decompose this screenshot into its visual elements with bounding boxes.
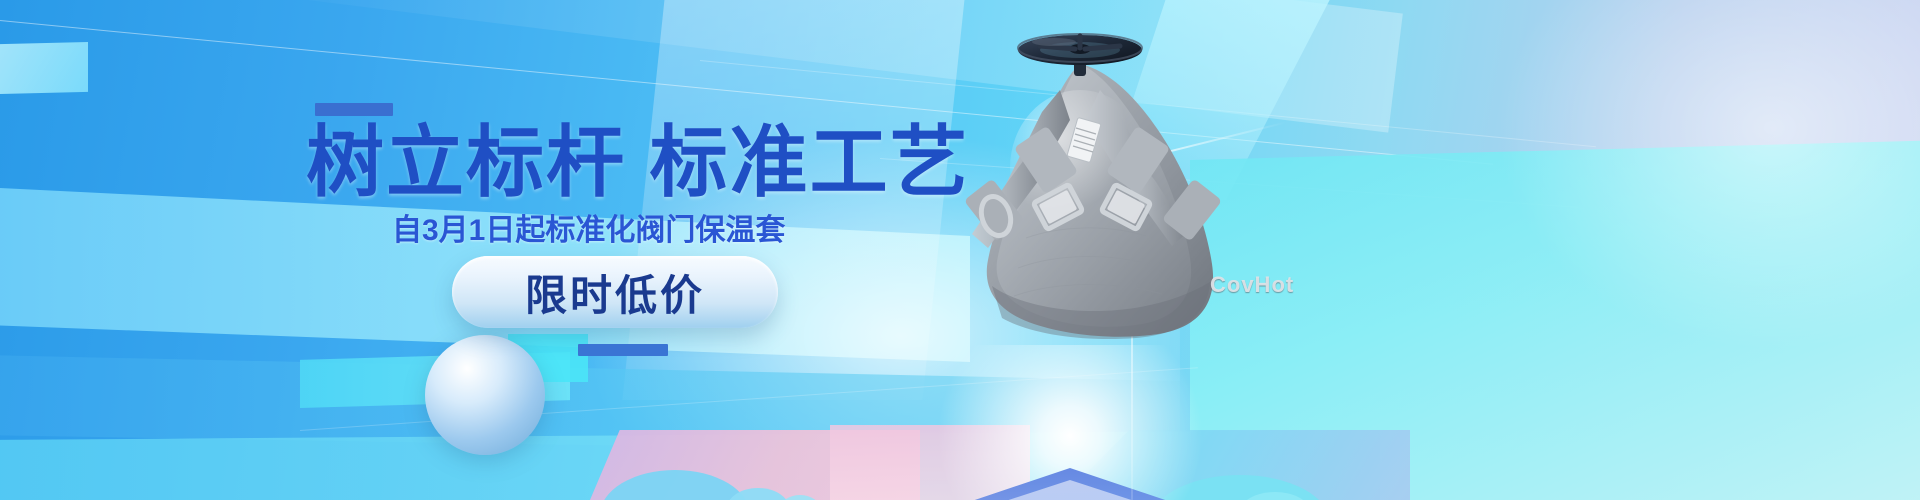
valve-handwheel [1018,34,1142,76]
light-chip-left [0,42,88,94]
cta-button-label: 限时低价 [525,262,705,323]
accent-dash-top [315,103,393,116]
product-brand-label: CovHot [1210,272,1294,298]
sphere-decoration [425,335,545,455]
promo-banner: CovHot 树立标杆 标准工艺 自3月1日起标准化阀门保温套 限时低价 [0,0,1920,500]
banner-headline: 树立标杆 标准工艺 [306,121,970,203]
banner-subtitle: 自3月1日起标准化阀门保温套 [392,214,785,248]
accent-dash-bottom [578,344,668,356]
product-image-valve-insulation-jacket [930,28,1260,358]
right-edge-glow [1460,0,1920,380]
limited-time-price-button[interactable]: 限时低价 [452,256,778,328]
